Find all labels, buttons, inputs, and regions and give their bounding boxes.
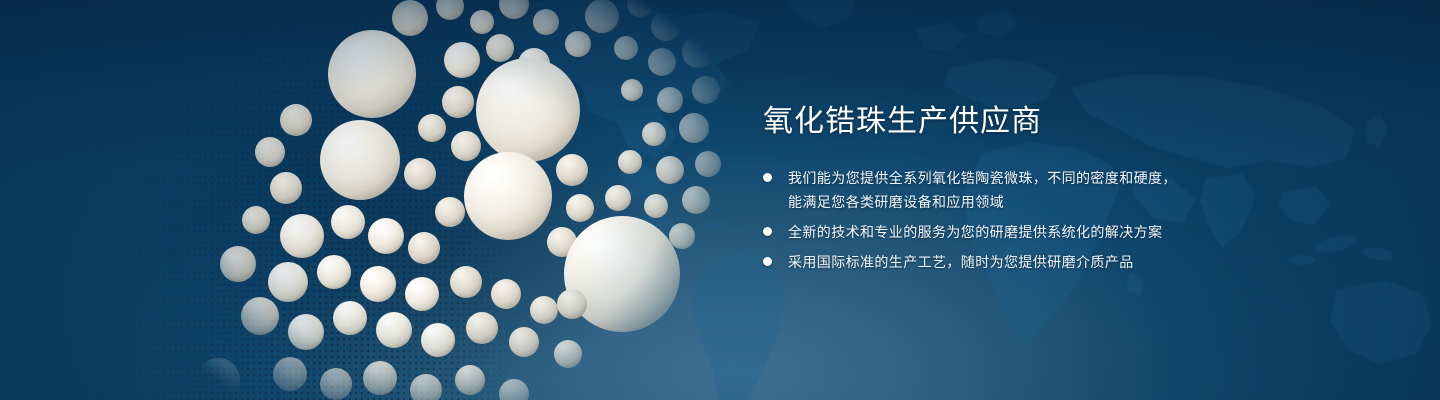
bullet-line-1: 我们能为您提供全系列氧化锆陶瓷微珠，不同的密度和硬度， xyxy=(788,170,1177,186)
bullet-dot-icon xyxy=(763,173,772,182)
banner-bullet-list: 我们能为您提供全系列氧化锆陶瓷微珠，不同的密度和硬度， 能满足您各类研磨设备和应… xyxy=(763,166,1323,274)
hero-banner: 氧化锆珠生产供应商 我们能为您提供全系列氧化锆陶瓷微珠，不同的密度和硬度， 能满… xyxy=(0,0,1440,400)
bullet-dot-icon xyxy=(763,257,772,266)
banner-headline: 氧化锆珠生产供应商 xyxy=(763,104,1323,140)
bullet-item-text: 全新的技术和专业的服务为您的研磨提供系统化的解决方案 xyxy=(788,220,1162,244)
bullet-item-text: 我们能为您提供全系列氧化锆陶瓷微珠，不同的密度和硬度， 能满足您各类研磨设备和应… xyxy=(788,166,1177,214)
bullet-line-1: 全新的技术和专业的服务为您的研磨提供系统化的解决方案 xyxy=(788,224,1162,240)
bullet-line-1: 采用国际标准的生产工艺，随时为您提供研磨介质产品 xyxy=(788,254,1134,270)
list-item: 采用国际标准的生产工艺，随时为您提供研磨介质产品 xyxy=(763,250,1323,274)
bullet-dot-icon xyxy=(763,227,772,236)
banner-text-block: 氧化锆珠生产供应商 我们能为您提供全系列氧化锆陶瓷微珠，不同的密度和硬度， 能满… xyxy=(763,104,1323,280)
bullet-line-2: 能满足您各类研磨设备和应用领域 xyxy=(788,190,1177,214)
list-item: 全新的技术和专业的服务为您的研磨提供系统化的解决方案 xyxy=(763,220,1323,244)
bullet-item-text: 采用国际标准的生产工艺，随时为您提供研磨介质产品 xyxy=(788,250,1134,274)
list-item: 我们能为您提供全系列氧化锆陶瓷微珠，不同的密度和硬度， 能满足您各类研磨设备和应… xyxy=(763,166,1323,214)
